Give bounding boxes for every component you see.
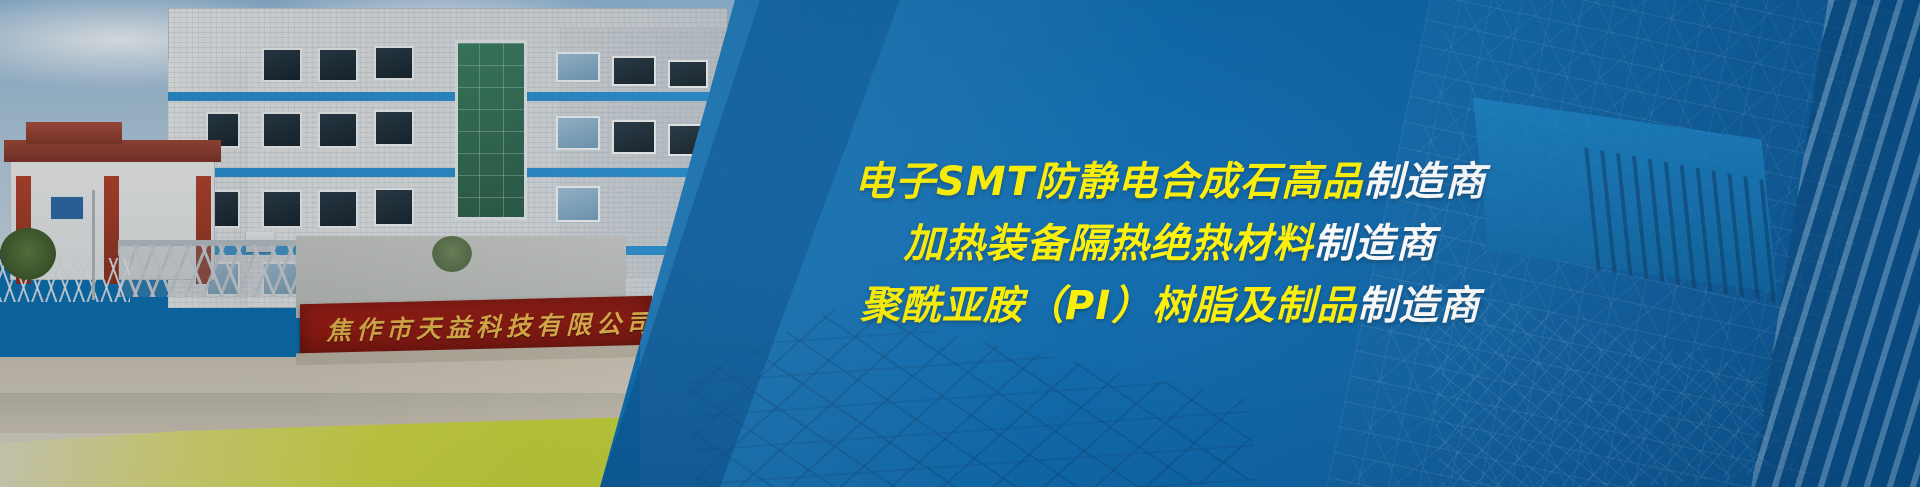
- headline-3-highlight: 聚酰亚胺（PI）树脂及制品: [860, 283, 1357, 329]
- headline-stack: 电子SMT防静电合成石高品制造商 加热装备隔热绝热材料制造商 聚酰亚胺（PI）树…: [0, 0, 1920, 487]
- headline-line-3: 聚酰亚胺（PI）树脂及制品制造商: [860, 286, 1480, 326]
- headline-line-1: 电子SMT防静电合成石高品制造商: [854, 162, 1486, 202]
- headline-2-tail: 制造商: [1314, 221, 1437, 267]
- headline-line-2: 加热装备隔热绝热材料制造商: [904, 224, 1437, 264]
- headline-1-highlight: 电子SMT防静电合成石高品: [854, 159, 1363, 205]
- headline-3-tail: 制造商: [1357, 283, 1480, 329]
- headline-2-highlight: 加热装备隔热绝热材料: [904, 221, 1314, 267]
- headline-1-tail: 制造商: [1363, 159, 1486, 205]
- hero-banner: 焦作市天益科技有限公司 电子SMT防静电合成石高品制造商 加热装备隔热绝热材料制…: [0, 0, 1920, 487]
